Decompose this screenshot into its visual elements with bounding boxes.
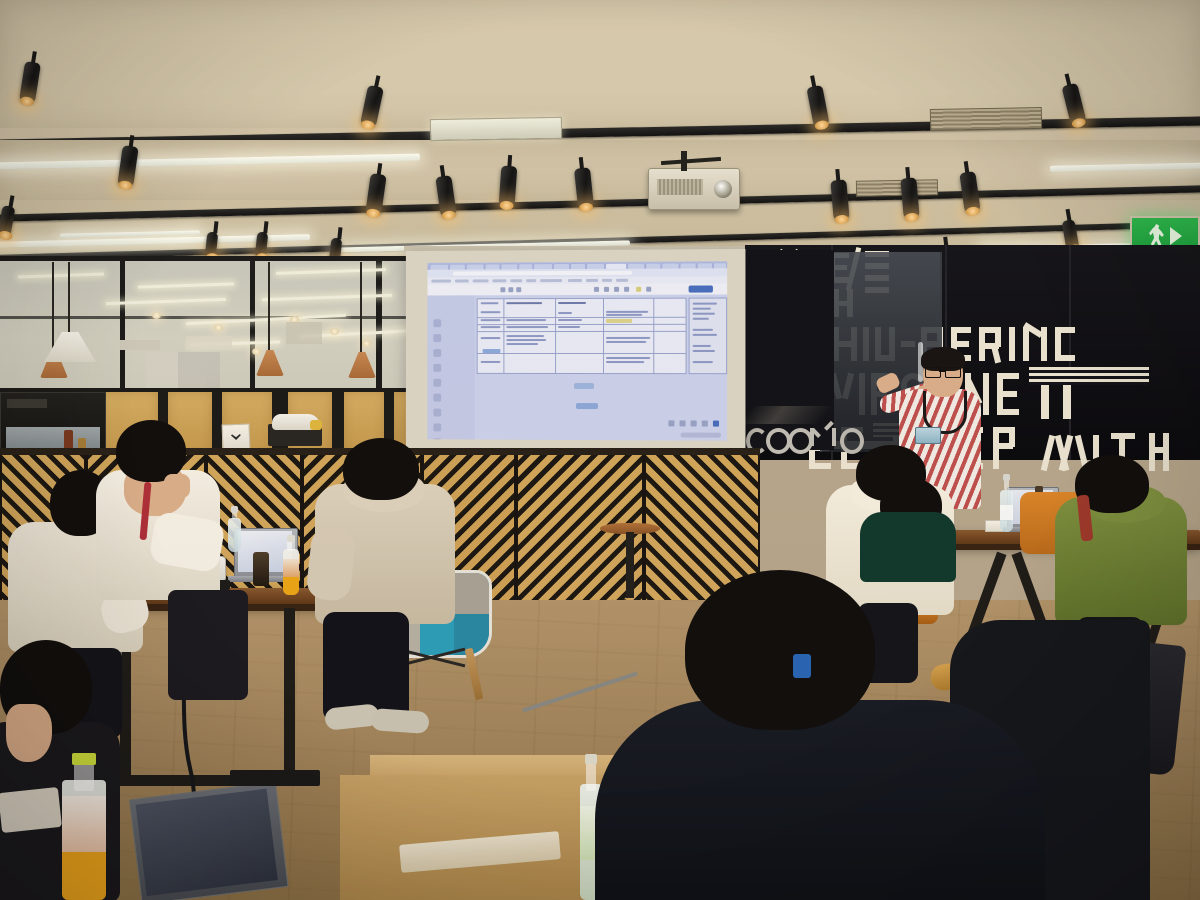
orange-drink-bottle[interactable] [62, 760, 106, 900]
attendee-top [595, 700, 1045, 900]
attendee-face [6, 704, 52, 762]
pen-icon[interactable] [433, 394, 441, 402]
spreadsheet-table[interactable] [477, 298, 687, 374]
ceiling [0, 0, 1200, 268]
redo-icon[interactable] [702, 421, 708, 427]
exit-arrow-icon [1170, 227, 1182, 245]
comment-icon[interactable] [433, 409, 441, 417]
attendee-hair [116, 420, 186, 482]
attendee-legs [168, 590, 248, 700]
document-canvas[interactable] [427, 294, 727, 440]
wifi-info-card [222, 424, 251, 451]
undo-icon[interactable] [691, 420, 697, 426]
zoom-in-icon[interactable] [680, 420, 686, 426]
attendee-center-hoodie [305, 438, 465, 698]
attendee-foreground [625, 570, 1015, 900]
attendee-right-green [1055, 455, 1185, 645]
sticky-note[interactable] [576, 403, 598, 409]
counter-sign-board [186, 336, 232, 350]
projected-content [427, 261, 727, 441]
frame-icon[interactable] [433, 334, 441, 342]
name-badge [915, 427, 941, 444]
attendee-shoe [370, 708, 429, 734]
share-button[interactable] [689, 285, 713, 292]
attendee-hair [685, 570, 875, 730]
tool-rail[interactable] [433, 319, 443, 441]
projection-screen [406, 249, 746, 456]
ceiling-air-grille-2 [856, 179, 938, 196]
right-panel[interactable] [689, 298, 728, 375]
link-icon[interactable] [433, 379, 441, 387]
attendee-arm [305, 526, 356, 602]
lanyard [793, 654, 811, 678]
copper-pendant-lamp [348, 352, 376, 378]
room-photo: EXIT [0, 0, 1200, 900]
present-icon[interactable] [713, 421, 719, 427]
text-icon[interactable] [433, 349, 441, 357]
track-spotlight [255, 231, 269, 258]
attendee-hand [164, 474, 190, 498]
water-bottle[interactable] [228, 510, 241, 552]
equipment-box [230, 770, 320, 786]
ceiling-diffuser [430, 117, 562, 141]
table-icon[interactable] [433, 423, 441, 431]
wifi-icon [231, 432, 241, 440]
counter-equipment [286, 322, 322, 344]
projector-lens [714, 180, 732, 198]
cursor-icon[interactable] [433, 319, 441, 327]
eyeglasses [925, 367, 961, 376]
left-panel[interactable] [427, 295, 474, 439]
track-spotlight [205, 231, 219, 258]
track-spotlight [900, 177, 919, 218]
ceiling-projector [648, 168, 740, 210]
table-leg [284, 608, 295, 786]
laptop-bottom-left[interactable] [129, 781, 291, 900]
floating-toolbar[interactable] [668, 420, 719, 426]
url-input[interactable] [453, 271, 632, 276]
coffee-bottle[interactable] [253, 552, 269, 586]
zoom-out-icon[interactable] [668, 420, 674, 426]
orange-juice-bottle[interactable] [283, 539, 299, 595]
notebook [0, 787, 62, 833]
shape-icon[interactable] [433, 364, 441, 372]
display-accent [310, 420, 322, 430]
attendee-left-back [96, 420, 216, 630]
sticky-note[interactable] [574, 383, 594, 389]
water-bottle[interactable] [1000, 478, 1013, 532]
glass-partition-cafe-area [0, 256, 430, 406]
zoom-control[interactable] [681, 432, 722, 437]
copper-pendant-lamp [256, 350, 284, 376]
ceiling-air-grille [930, 107, 1042, 131]
track-spotlight [830, 179, 849, 220]
attendee-hair [343, 438, 419, 500]
chair-leg [465, 648, 484, 701]
track-spotlight [499, 165, 518, 206]
counter-signage [120, 340, 160, 350]
